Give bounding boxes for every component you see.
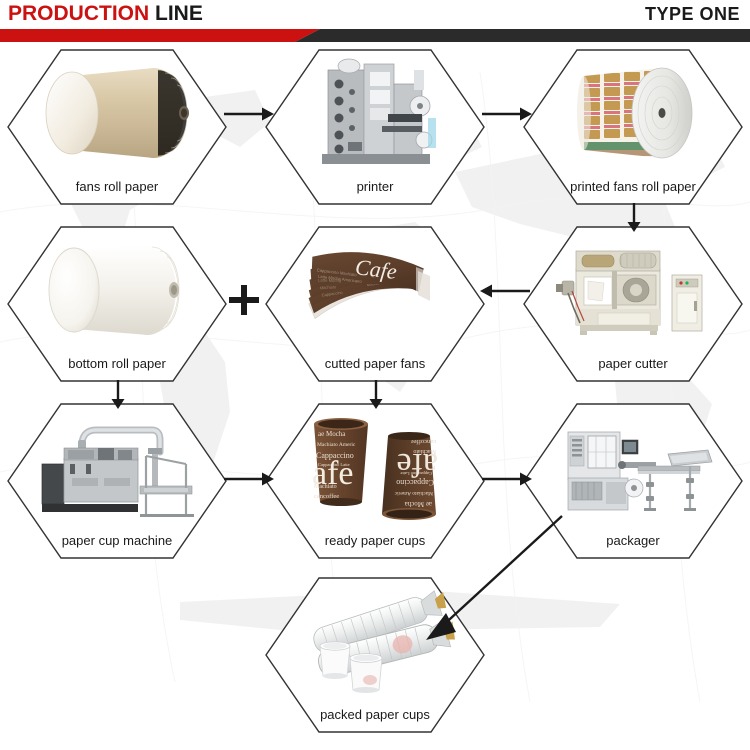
node-printer[interactable]: printer	[264, 48, 486, 206]
svg-text:cancoffee: cancoffee	[411, 438, 436, 445]
node-label: printer	[264, 179, 486, 194]
node-bottom-roll-paper[interactable]: bottom roll paper	[6, 225, 228, 383]
printed-paper-roll-image	[550, 54, 716, 172]
connector-arrow-right-4	[480, 469, 532, 489]
node-cutted-paper-fans[interactable]: CappaccinoMocha MachiatoAmericano Latte …	[264, 225, 486, 383]
node-label: cutted paper fans	[264, 356, 486, 371]
svg-text:ae Mocha: ae Mocha	[404, 500, 432, 508]
header-accent-bar	[0, 29, 750, 42]
node-printed-fans-roll-paper[interactable]: printed fans roll paper	[522, 48, 744, 206]
page-title: PRODUCTION LINE	[8, 2, 203, 26]
printed-coffee-cups-image: ae Mocha Machiato Americ Cappaccino Capp…	[292, 408, 458, 526]
svg-text:afe: afe	[312, 455, 354, 492]
node-fans-roll-paper[interactable]: fans roll paper	[6, 48, 228, 206]
page-title-secondary: LINE	[155, 2, 203, 25]
node-label: paper cutter	[522, 356, 744, 371]
cup-forming-machine-image	[34, 408, 200, 526]
svg-text:Machiato Americ: Machiato Americ	[317, 442, 356, 448]
connector-arrow-right-3	[222, 469, 274, 489]
connector-arrow-left-1	[480, 281, 532, 301]
connector-arrow-down-1	[624, 202, 644, 232]
type-label: TYPE ONE	[645, 4, 740, 25]
paper-roll-cream-image	[34, 54, 200, 172]
connector-arrow-right-2	[480, 104, 532, 124]
node-label: fans roll paper	[6, 179, 228, 194]
page-title-primary: PRODUCTION	[8, 2, 149, 25]
paper-roll-white-image	[34, 231, 200, 349]
connector-arrow-down-2	[108, 379, 128, 409]
process-flow-diagram: fans roll paper	[0, 42, 750, 750]
connector-arrow-right-1	[222, 104, 274, 124]
node-label: printed fans roll paper	[522, 179, 744, 194]
page-header: PRODUCTION LINE TYPE ONE	[0, 0, 750, 42]
packaging-machine-image	[550, 408, 716, 526]
connector-plus-symbol	[226, 282, 262, 318]
svg-text:cancoffee: cancoffee	[314, 493, 339, 500]
cafe-paper-fans-image: CappaccinoMocha MachiatoAmericano Latte …	[292, 231, 458, 349]
svg-text:Cafe: Cafe	[354, 254, 399, 284]
printing-machine-image	[292, 54, 458, 172]
connector-arrow-down-3	[366, 379, 386, 409]
svg-text:ae Mocha: ae Mocha	[318, 430, 346, 438]
node-paper-cutter[interactable]: paper cutter	[522, 225, 744, 383]
node-paper-cup-machine[interactable]: paper cup machine	[6, 402, 228, 560]
node-label: bottom roll paper	[6, 356, 228, 371]
node-label: packed paper cups	[264, 707, 486, 722]
cutting-machine-image	[550, 231, 716, 349]
node-label: paper cup machine	[6, 533, 228, 548]
connector-arrow-diagonal	[410, 512, 570, 647]
svg-text:afe: afe	[396, 446, 438, 483]
svg-text:Machiato Americ: Machiato Americ	[394, 490, 433, 496]
